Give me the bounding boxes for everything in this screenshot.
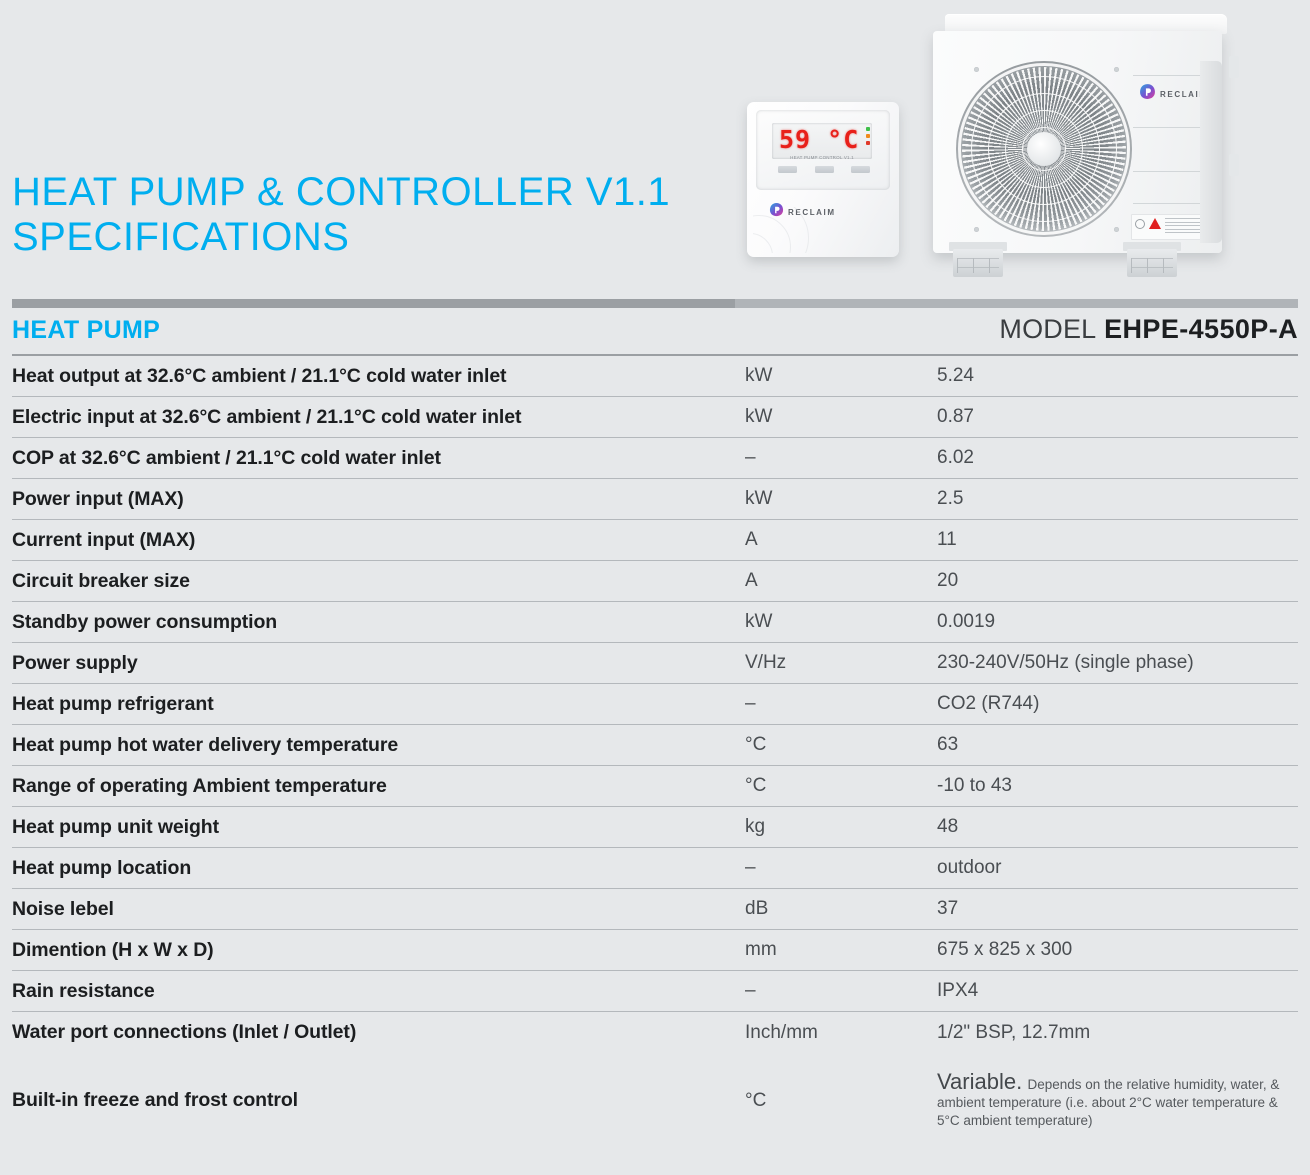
- table-row: Dimention (H x W x D)mm675 x 825 x 300: [12, 930, 1298, 971]
- row-value: 0.0019: [937, 611, 1298, 633]
- row-unit: Inch/mm: [745, 1022, 937, 1044]
- product-photos: 59 °C HEAT PUMP CONTROL V1.1: [735, 0, 1310, 295]
- row-label: Heat pump refrigerant: [12, 693, 745, 716]
- row-unit: mm: [745, 939, 937, 961]
- row-value: 5.24: [937, 365, 1298, 387]
- row-unit: kW: [745, 488, 937, 510]
- table-model-heading: MODEL EHPE-4550P-A: [999, 314, 1298, 345]
- header-divider-bar: [12, 299, 1298, 308]
- row-unit: A: [745, 529, 937, 551]
- row-value: 20: [937, 570, 1298, 592]
- controller-button-left: [778, 166, 797, 173]
- row-label: Circuit breaker size: [12, 570, 745, 593]
- row-label: Heat pump hot water delivery temperature: [12, 734, 745, 757]
- page-title-line-2: SPECIFICATIONS: [12, 215, 732, 260]
- controller-lcd-screen: 59 °C HEAT PUMP CONTROL V1.1: [772, 123, 872, 159]
- row-unit: –: [745, 447, 937, 469]
- heat-pump-mount-ear: [1229, 56, 1239, 78]
- row-value: 0.87: [937, 406, 1298, 428]
- heat-pump-product-image: RECLAIM: [931, 14, 1233, 284]
- controller-decorative-arcs: [753, 207, 811, 253]
- row-value: 2.5: [937, 488, 1298, 510]
- controller-face-panel: 59 °C HEAT PUMP CONTROL V1.1: [756, 110, 890, 190]
- table-row: Noise lebeldB37: [12, 889, 1298, 930]
- led-red-icon: [866, 141, 870, 145]
- row-label: Heat pump location: [12, 857, 745, 880]
- header-divider-bar-dark-segment: [12, 299, 735, 308]
- table-row: Circuit breaker sizeA20: [12, 561, 1298, 602]
- row-unit: A: [745, 570, 937, 592]
- row-label: Rain resistance: [12, 980, 745, 1003]
- row-value: 675 x 825 x 300: [937, 939, 1298, 961]
- heat-pump-brand-logo: RECLAIM: [1139, 83, 1208, 105]
- row-unit: –: [745, 857, 937, 879]
- row-value: outdoor: [937, 857, 1298, 879]
- table-header-row: HEAT PUMP MODEL EHPE-4550P-A: [12, 312, 1298, 356]
- row-value-lead: Variable.: [937, 1069, 1022, 1094]
- heat-pump-fan-hub: [1027, 132, 1061, 166]
- row-label: Built-in freeze and frost control: [12, 1089, 745, 1112]
- row-label: Power input (MAX): [12, 488, 745, 511]
- row-value: 230-240V/50Hz (single phase): [937, 652, 1298, 674]
- table-row: Range of operating Ambient temperature°C…: [12, 766, 1298, 807]
- controller-product-image: 59 °C HEAT PUMP CONTROL V1.1: [747, 102, 899, 257]
- heat-pump-foot: [953, 249, 1003, 277]
- row-unit: kg: [745, 816, 937, 838]
- heat-pump-side-panel: [1200, 61, 1222, 243]
- page-title-line-1: HEAT PUMP & CONTROLLER V1.1: [12, 170, 732, 215]
- table-row: Current input (MAX)A11: [12, 520, 1298, 561]
- row-label: Electric input at 32.6°C ambient / 21.1°…: [12, 406, 745, 429]
- table-row: Rain resistance–IPX4: [12, 971, 1298, 1012]
- screw-icon: [1114, 67, 1119, 72]
- row-label: Noise lebel: [12, 898, 745, 921]
- table-row: Power supplyV/Hz230-240V/50Hz (single ph…: [12, 643, 1298, 684]
- row-value: 37: [937, 898, 1298, 920]
- screw-icon: [974, 67, 979, 72]
- row-value: CO2 (R744): [937, 693, 1298, 715]
- model-value: EHPE-4550P-A: [1104, 314, 1298, 344]
- led-green-icon: [866, 127, 870, 131]
- reclaim-logo: RECLAIM: [1139, 83, 1208, 105]
- row-unit: V/Hz: [745, 652, 937, 674]
- table-body: Heat output at 32.6°C ambient / 21.1°C c…: [12, 356, 1298, 1053]
- row-unit: °C: [745, 775, 937, 797]
- row-value: 6.02: [937, 447, 1298, 469]
- row-label: COP at 32.6°C ambient / 21.1°C cold wate…: [12, 447, 745, 470]
- row-value: Variable. Depends on the relative humidi…: [937, 1073, 1298, 1129]
- table-row: Heat pump unit weightkg48: [12, 807, 1298, 848]
- heat-pump-body: RECLAIM: [933, 31, 1222, 253]
- heat-pump-mount-ear: [1229, 154, 1239, 176]
- warning-circle-icon: [1135, 219, 1145, 229]
- row-unit: °C: [745, 734, 937, 756]
- row-unit: –: [745, 980, 937, 1002]
- row-value: 63: [937, 734, 1298, 756]
- row-value: 11: [937, 529, 1298, 551]
- table-row: Water port connections (Inlet / Outlet)I…: [12, 1012, 1298, 1053]
- heat-pump-fan-grille: [956, 61, 1132, 237]
- table-row: Heat pump hot water delivery temperature…: [12, 725, 1298, 766]
- table-row: Standby power consumptionkW0.0019: [12, 602, 1298, 643]
- table-row: COP at 32.6°C ambient / 21.1°C cold wate…: [12, 438, 1298, 479]
- row-unit: kW: [745, 365, 937, 387]
- row-label: Water port connections (Inlet / Outlet): [12, 1021, 745, 1044]
- label-text-lines: [1165, 218, 1203, 236]
- table-row: Heat pump refrigerant–CO2 (R744): [12, 684, 1298, 725]
- row-label: Heat output at 32.6°C ambient / 21.1°C c…: [12, 365, 745, 388]
- row-label: Range of operating Ambient temperature: [12, 775, 745, 798]
- controller-buttons: [778, 166, 870, 173]
- screw-icon: [1114, 227, 1119, 232]
- warning-triangle-icon: [1149, 218, 1161, 229]
- row-unit: °C: [745, 1090, 937, 1112]
- controller-status-leds: [866, 127, 870, 148]
- controller-model-caption: HEAT PUMP CONTROL V1.1: [772, 155, 872, 160]
- table-row: Heat pump location–outdoor: [12, 848, 1298, 889]
- row-unit: kW: [745, 406, 937, 428]
- row-unit: kW: [745, 611, 937, 633]
- row-label: Current input (MAX): [12, 529, 745, 552]
- page-title: HEAT PUMP & CONTROLLER V1.1 SPECIFICATIO…: [12, 170, 732, 260]
- reclaim-droplet-icon: [1139, 83, 1156, 105]
- controller-temperature-readout: 59 °C: [779, 126, 859, 153]
- table-row: Electric input at 32.6°C ambient / 21.1°…: [12, 397, 1298, 438]
- heat-pump-warning-label: [1131, 214, 1207, 240]
- table-row: Power input (MAX)kW2.5: [12, 479, 1298, 520]
- controller-button-middle: [815, 166, 834, 173]
- row-value: 1/2" BSP, 12.7mm: [937, 1022, 1298, 1044]
- led-orange-icon: [866, 134, 870, 138]
- model-label: MODEL: [999, 314, 1096, 344]
- specifications-table: HEAT PUMP MODEL EHPE-4550P-A Heat output…: [12, 312, 1298, 1148]
- row-value: IPX4: [937, 980, 1298, 1002]
- header-area: HEAT PUMP & CONTROLLER V1.1 SPECIFICATIO…: [0, 0, 1310, 300]
- row-label: Power supply: [12, 652, 745, 675]
- row-value: -10 to 43: [937, 775, 1298, 797]
- table-row: Heat output at 32.6°C ambient / 21.1°C c…: [12, 356, 1298, 397]
- table-row: Built-in freeze and frost control °C Var…: [12, 1053, 1298, 1148]
- row-value: 48: [937, 816, 1298, 838]
- screw-icon: [974, 227, 979, 232]
- row-unit: dB: [745, 898, 937, 920]
- heat-pump-foot: [1127, 249, 1177, 277]
- table-category-title: HEAT PUMP: [12, 316, 160, 345]
- row-unit: –: [745, 693, 937, 715]
- row-label: Dimention (H x W x D): [12, 939, 745, 962]
- controller-button-right: [851, 166, 870, 173]
- row-label: Heat pump unit weight: [12, 816, 745, 839]
- row-label: Standby power consumption: [12, 611, 745, 634]
